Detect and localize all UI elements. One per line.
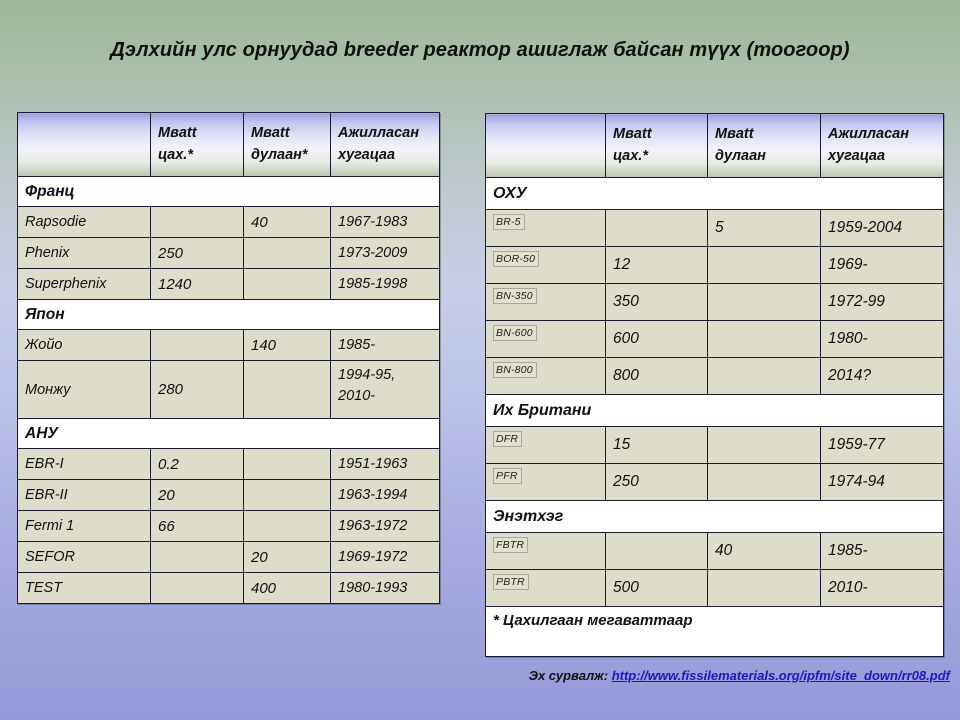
reactor-name: BN-600 [486,321,606,358]
reactor-mw-electric [606,533,708,570]
table-row: EBR-I 0.2 1951-1963 [18,449,440,480]
reactor-period: 1951-1963 [331,449,440,480]
footnote-row: * Цахилгаан мегаваттаар [486,607,944,657]
table-header-row: Мвatt цах.* Мвatt дулаан Ажилласан хугац… [486,114,944,178]
reactor-mw-thermal [244,361,331,419]
reactor-mw-electric [151,573,244,604]
column-header-mw-electric: Мвatt цах.* [606,114,708,178]
reactor-period: 1980-1993 [331,573,440,604]
table-row: Superphenix 1240 1985-1998 [18,269,440,300]
column-header-period: Ажилласан хугацаа [331,113,440,177]
reactor-name: EBR-I [18,449,151,480]
table-row: Rapsodie 40 1967-1983 [18,207,440,238]
country-label: Их Британи [486,395,944,427]
reactor-mw-thermal: 40 [708,533,821,570]
reactor-period: 2014? [821,358,944,395]
reactor-mw-thermal [708,358,821,395]
country-label: Япон [18,300,440,330]
reactor-mw-electric [151,207,244,238]
reactor-mw-thermal: 40 [244,207,331,238]
reactor-name: DFR [486,427,606,464]
table-row: Phenix 250 1973-2009 [18,238,440,269]
reactor-mw-thermal [708,321,821,358]
reactor-mw-electric: 1240 [151,269,244,300]
reactor-period: 1980- [821,321,944,358]
reactor-name: BN-800 [486,358,606,395]
reactor-mw-electric: 0.2 [151,449,244,480]
table-row: FBTR 40 1985- [486,533,944,570]
reactor-mw-electric: 20 [151,480,244,511]
reactor-period: 1967-1983 [331,207,440,238]
column-header-name [486,114,606,178]
reactor-name: Монжу [18,361,151,419]
reactor-name: Superphenix [18,269,151,300]
reactor-period: 1994-95, 2010- [331,361,440,419]
reactor-period: 1985- [331,330,440,361]
reactor-name: Fermi 1 [18,511,151,542]
source-line: Эх сурвалж: http://www.fissilematerials.… [0,668,950,683]
right-reactor-table: Мвatt цах.* Мвatt дулаан Ажилласан хугац… [485,113,944,657]
column-header-mw-thermal: Мвatt дулаан* [244,113,331,177]
reactor-name: PBTR [486,570,606,607]
country-label: ОХУ [486,178,944,210]
reactor-period: 2010- [821,570,944,607]
reactor-mw-electric [151,330,244,361]
reactor-period: 1985- [821,533,944,570]
reactor-period: 1972-99 [821,284,944,321]
reactor-period-line2: 2010- [338,388,375,404]
table-row: BN-350 350 1972-99 [486,284,944,321]
table-row: Жойо 140 1985- [18,330,440,361]
table-row: BN-600 600 1980- [486,321,944,358]
reactor-mw-electric: 500 [606,570,708,607]
reactor-period-line1: 1994-95, [338,367,395,383]
column-header-mw-thermal: Мвatt дулаан [708,114,821,178]
section-row-russia: ОХУ [486,178,944,210]
page-title-line1: Дэлхийн улс орнуудад breeder реактор аши… [110,39,741,61]
table-row: PFR 250 1974-94 [486,464,944,501]
reactor-period: 1963-1972 [331,511,440,542]
reactor-mw-thermal: 5 [708,210,821,247]
source-url-link[interactable]: http://www.fissilematerials.org/ipfm/sit… [612,668,950,683]
reactor-period: 1985-1998 [331,269,440,300]
table-row: BR-5 5 1959-2004 [486,210,944,247]
reactor-mw-thermal [708,570,821,607]
reactor-mw-electric: 66 [151,511,244,542]
reactor-mw-thermal: 400 [244,573,331,604]
reactor-period: 1973-2009 [331,238,440,269]
reactor-mw-thermal [244,269,331,300]
table-row: BOR-50 12 1969- [486,247,944,284]
reactor-name: BOR-50 [486,247,606,284]
reactor-name: SEFOR [18,542,151,573]
reactor-mw-electric [151,542,244,573]
reactor-name: BR-5 [486,210,606,247]
reactor-period: 1969-1972 [331,542,440,573]
reactor-name: Phenix [18,238,151,269]
section-row-india: Энэтхэг [486,501,944,533]
reactor-mw-thermal [708,427,821,464]
country-label: Энэтхэг [486,501,944,533]
reactor-mw-thermal: 20 [244,542,331,573]
reactor-period: 1963-1994 [331,480,440,511]
reactor-mw-electric [606,210,708,247]
section-row-japan: Япон [18,300,440,330]
reactor-name: Rapsodie [18,207,151,238]
reactor-mw-thermal [244,449,331,480]
left-reactor-table: Мвatt цах.* Мвatt дулаан* Ажилласан хуга… [17,112,440,604]
table-row: TEST 400 1980-1993 [18,573,440,604]
reactor-period: 1969- [821,247,944,284]
section-row-usa: АНУ [18,419,440,449]
section-row-france: Франц [18,177,440,207]
reactor-mw-thermal [708,247,821,284]
reactor-mw-thermal [244,480,331,511]
table-row: DFR 15 1959-77 [486,427,944,464]
country-label: Франц [18,177,440,207]
table-row: EBR-II 20 1963-1994 [18,480,440,511]
reactor-mw-electric: 12 [606,247,708,284]
table-row: BN-800 800 2014? [486,358,944,395]
reactor-period: 1959-77 [821,427,944,464]
reactor-name: BN-350 [486,284,606,321]
reactor-mw-thermal [244,238,331,269]
reactor-mw-electric: 800 [606,358,708,395]
table-header-row: Мвatt цах.* Мвatt дулаан* Ажилласан хуга… [18,113,440,177]
reactor-mw-electric: 250 [606,464,708,501]
column-header-name [18,113,151,177]
reactor-mw-thermal [708,464,821,501]
reactor-name: FBTR [486,533,606,570]
reactor-mw-electric: 15 [606,427,708,464]
footnote-label: * Цахилгаан мегаваттаар [486,607,944,657]
reactor-name: Жойо [18,330,151,361]
table-row: Монжу 280 1994-95, 2010- [18,361,440,419]
table-row: PBTR 500 2010- [486,570,944,607]
reactor-period: 1974-94 [821,464,944,501]
reactor-period: 1959-2004 [821,210,944,247]
reactor-mw-thermal [244,511,331,542]
column-header-mw-electric: Мвatt цах.* [151,113,244,177]
reactor-mw-electric: 350 [606,284,708,321]
reactor-name: EBR-II [18,480,151,511]
section-row-uk: Их Британи [486,395,944,427]
table-row: SEFOR 20 1969-1972 [18,542,440,573]
reactor-mw-thermal: 140 [244,330,331,361]
page-title-line2: (тоогоор) [747,39,850,61]
reactor-mw-electric: 600 [606,321,708,358]
reactor-mw-electric: 280 [151,361,244,419]
page-title: Дэлхийн улс орнуудад breeder реактор аши… [60,38,900,63]
column-header-period: Ажилласан хугацаа [821,114,944,178]
table-row: Fermi 1 66 1963-1972 [18,511,440,542]
reactor-mw-thermal [708,284,821,321]
reactor-name: PFR [486,464,606,501]
source-label: Эх сурвалж: [529,668,612,683]
reactor-mw-electric: 250 [151,238,244,269]
country-label: АНУ [18,419,440,449]
reactor-name: TEST [18,573,151,604]
